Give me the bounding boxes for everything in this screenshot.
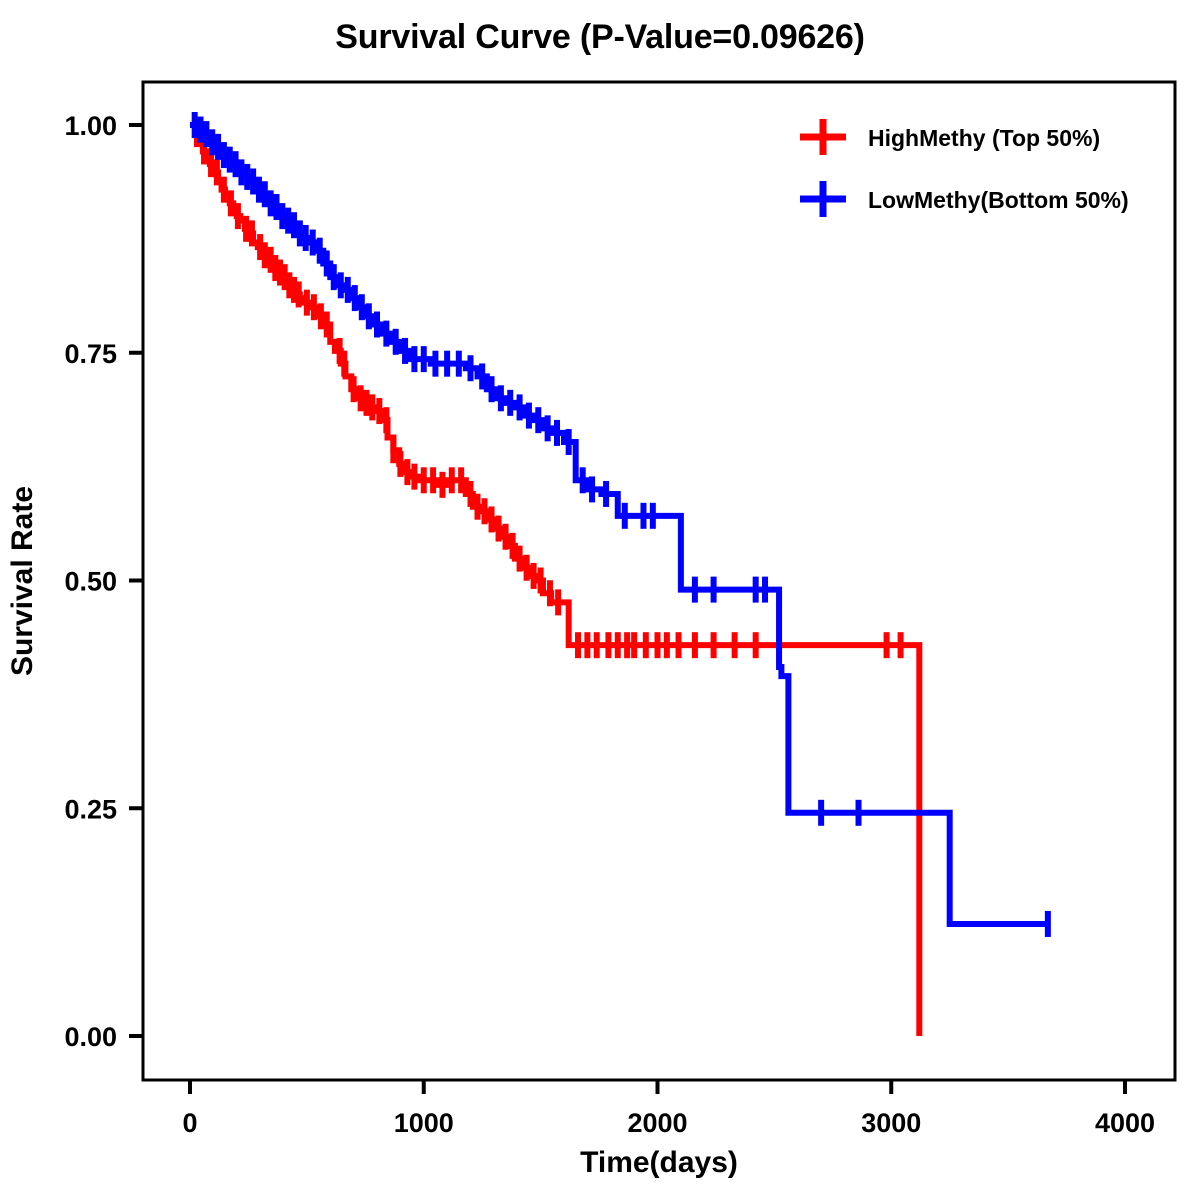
y-axis-ticks: 0.000.250.500.751.00 [64,111,143,1052]
x-tick-label: 3000 [861,1108,921,1138]
x-axis-title: Time(days) [580,1146,738,1179]
legend-item: HighMethy (Top 50%) [800,119,1100,155]
survival-chart-page: Survival Curve (P-Value=0.09626) 0100020… [0,0,1200,1200]
x-tick-label: 4000 [1095,1108,1155,1138]
series-low-methy [190,112,1048,937]
y-tick-label: 0.50 [64,567,117,597]
y-tick-label: 0.75 [64,339,117,369]
step-curve [190,125,919,1036]
y-tick-label: 1.00 [64,111,117,141]
x-tick-label: 0 [182,1108,197,1138]
x-axis-ticks: 01000200030004000 [182,1080,1155,1138]
x-tick-label: 2000 [627,1108,687,1138]
y-tick-label: 0.00 [64,1022,117,1052]
series-layer [190,112,1048,1036]
chart-legend: HighMethy (Top 50%)LowMethy(Bottom 50%) [800,119,1129,217]
survival-plot: 01000200030004000 0.000.250.500.751.00 H… [0,0,1200,1200]
y-axis-title: Survival Rate [6,486,39,676]
x-tick-label: 1000 [394,1108,454,1138]
series-high-methy [190,121,919,1036]
legend-label: HighMethy (Top 50%) [868,125,1100,151]
legend-label: LowMethy(Bottom 50%) [868,187,1129,213]
legend-item: LowMethy(Bottom 50%) [800,181,1129,217]
y-tick-label: 0.25 [64,794,117,824]
